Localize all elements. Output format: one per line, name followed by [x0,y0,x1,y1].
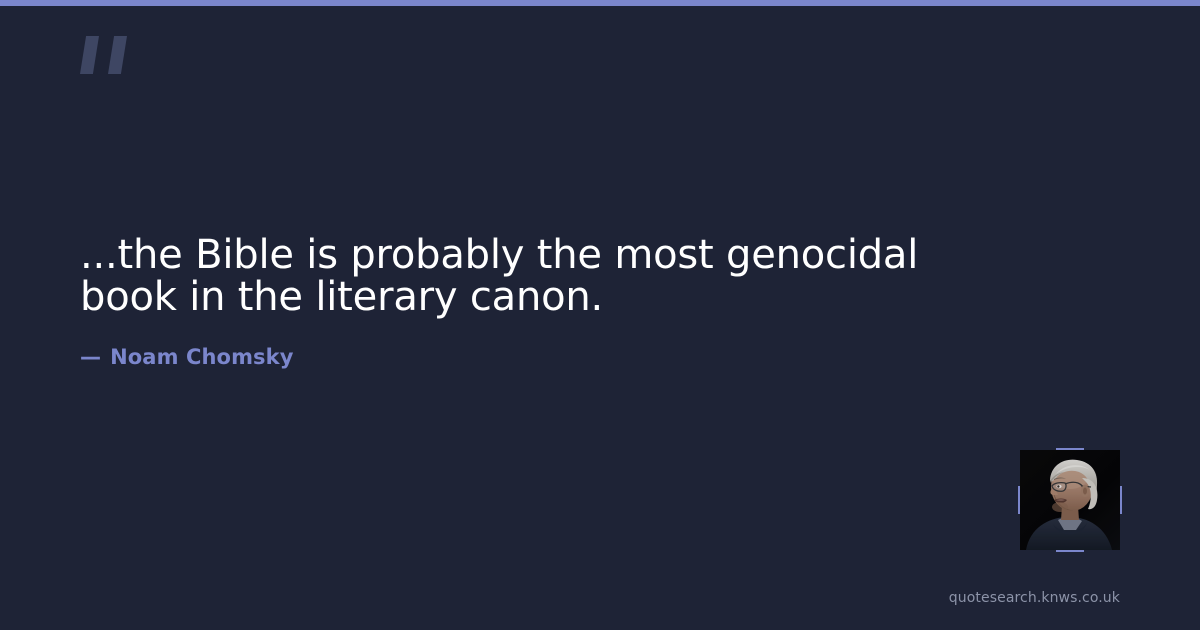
attribution-dash: — [80,345,101,369]
author-portrait-image [1020,450,1120,550]
double-quote-open-icon [80,36,136,82]
portrait-edge-tick-right [1120,486,1122,514]
quote-card: ...the Bible is probably the most genoci… [0,0,1200,630]
portrait-frame [1020,450,1120,550]
quote-text: ...the Bible is probably the most genoci… [80,234,1010,318]
source-watermark: quotesearch.knws.co.uk [949,590,1120,606]
portrait-edge-tick-left [1018,486,1020,514]
attribution: — Noam Chomsky [80,345,294,369]
portrait-edge-tick-top [1056,448,1084,450]
quote-glyph-bar-left [80,36,99,74]
author-portrait [1020,450,1120,550]
top-accent-bar [0,0,1200,6]
quote-glyph-bar-right [108,36,127,74]
attribution-author: Noam Chomsky [110,345,293,369]
portrait-edge-tick-bottom [1056,550,1084,552]
